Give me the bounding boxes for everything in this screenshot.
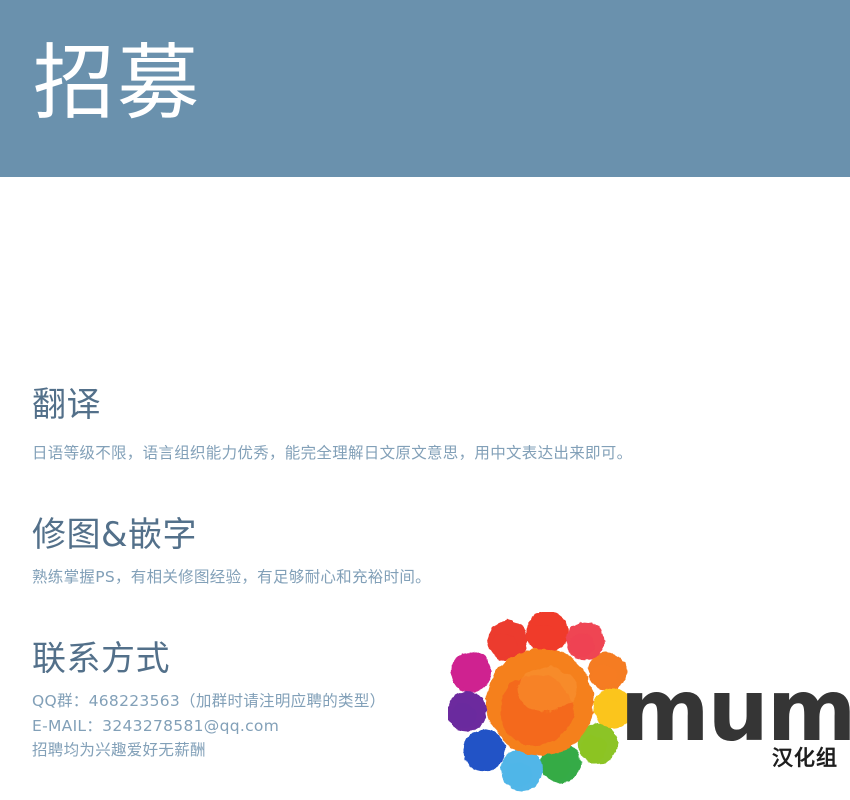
contact-line-note: 招聘均为兴趣爱好无薪酬 bbox=[32, 738, 385, 763]
contact-line-qq: QQ群：468223563（加群时请注明应聘的类型） bbox=[32, 689, 385, 714]
section-contact: 联系方式 QQ群：468223563（加群时请注明应聘的类型） E-MAIL：3… bbox=[32, 639, 385, 763]
logo: mum 汉化组 bbox=[448, 612, 840, 792]
dot-blue-highlight bbox=[466, 743, 494, 768]
dot-light-blue-highlight bbox=[504, 762, 532, 787]
logo-wordmark-group: mum 汉化组 bbox=[620, 668, 840, 788]
page-title: 招募 bbox=[33, 36, 201, 133]
logo-mark-watercolor-circle bbox=[448, 612, 638, 792]
dot-yellow-green-highlight bbox=[580, 736, 607, 760]
section-translate: 翻译 日语等级不限，语言组织能力优秀，能完全理解日文原文意思，用中文表达出来即可… bbox=[32, 385, 632, 465]
contact-line-email: E-MAIL：3243278581@qq.com bbox=[32, 714, 385, 739]
section-translate-heading: 翻译 bbox=[32, 385, 632, 426]
section-retouch-body: 熟练掌握PS，有相关修图经验，有足够耐心和充裕时间。 bbox=[32, 565, 431, 589]
logo-wordmark-text: mum bbox=[620, 668, 850, 754]
dot-red-bright-highlight bbox=[530, 624, 558, 649]
dot-yellow-highlight bbox=[596, 701, 623, 725]
dot-red-highlight bbox=[491, 633, 518, 657]
section-retouch: 修图&嵌字 熟练掌握PS，有相关修图经验，有足够耐心和充裕时间。 bbox=[32, 515, 431, 589]
contact-lines: QQ群：468223563（加群时请注明应聘的类型） E-MAIL：324327… bbox=[32, 689, 385, 763]
section-retouch-heading: 修图&嵌字 bbox=[32, 515, 431, 556]
dot-purple-highlight bbox=[450, 704, 477, 728]
header-banner: 招募 bbox=[0, 0, 850, 177]
section-translate-body: 日语等级不限，语言组织能力优秀，能完全理解日文原文意思，用中文表达出来即可。 bbox=[32, 441, 632, 465]
dot-red-pink-highlight bbox=[569, 634, 594, 657]
dot-green-highlight bbox=[544, 755, 571, 779]
logo-subtitle-text: 汉化组 bbox=[772, 748, 838, 769]
section-contact-heading: 联系方式 bbox=[32, 639, 385, 680]
dot-magenta-highlight bbox=[454, 664, 481, 688]
dot-orange-highlight bbox=[591, 664, 616, 687]
